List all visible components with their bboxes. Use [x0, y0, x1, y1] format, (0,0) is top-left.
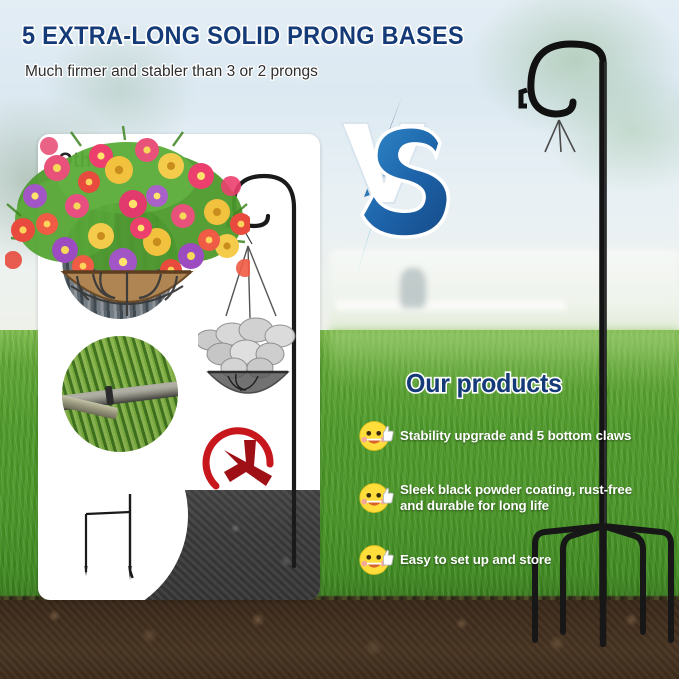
bullet-item: Stability upgrade and 5 bottom claws	[358, 418, 679, 454]
infographic-canvas: 5 EXTRA-LONG SOLID PRONG BASES Much firm…	[0, 0, 679, 679]
bullet-text: Sleek black powder coating, rust-free	[400, 482, 632, 498]
photo-bent-pole-on-grass	[62, 336, 178, 452]
two-prong-stake-icon	[68, 492, 178, 584]
bullet-text: Easy to set up and store	[400, 552, 551, 568]
page-subtitle: Much firmer and stabler than 3 or 2 pron…	[25, 63, 318, 81]
hanging-flower-basket	[5, 120, 250, 335]
bullet-text-line2: and durable for long life	[400, 498, 632, 514]
smiley-thumbs-up-icon	[358, 542, 394, 578]
bullet-item: Easy to set up and store	[358, 542, 679, 578]
smiley-thumbs-up-icon	[358, 480, 394, 516]
our-products-bullet-list: Stability upgrade and 5 bottom claws Sle…	[358, 418, 679, 604]
smiley-thumbs-up-icon	[358, 418, 394, 454]
bullet-text: Stability upgrade and 5 bottom claws	[400, 428, 631, 444]
bullet-item: Sleek black powder coating, rust-free an…	[358, 480, 679, 516]
our-products-heading: Our products	[406, 368, 562, 399]
